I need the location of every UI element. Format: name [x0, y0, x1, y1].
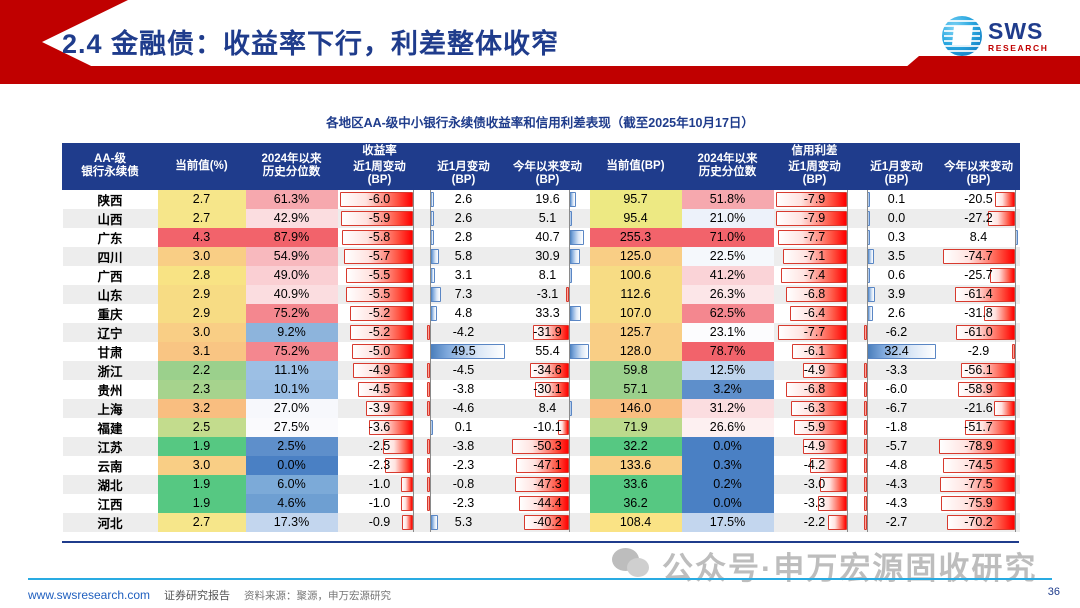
cell-value: 95.4 — [623, 211, 647, 225]
table-row[interactable]: 四川3.054.9%-5.75.830.9125.022.5%-7.13.5-7… — [63, 247, 1020, 266]
cell-value: -5.9 — [369, 211, 391, 225]
bar-axis — [413, 342, 414, 361]
bar-axis — [1015, 266, 1016, 285]
col-head-spread-ytd-l2: (BP) — [940, 174, 1017, 188]
cell-yield-current: 1.9 — [158, 437, 246, 456]
bar-axis — [867, 437, 868, 456]
bar-axis — [430, 190, 431, 209]
col-head-spread-w1-l2: (BP) — [776, 174, 853, 188]
cell-region: 甘肃 — [63, 342, 158, 361]
cell-spread-current: 36.2 — [590, 494, 682, 513]
cell-yield-current: 3.1 — [158, 342, 246, 361]
cell-yield-ytd-change: 8.4 — [506, 399, 590, 418]
cell-value: -27.2 — [964, 211, 993, 225]
bar-axis — [430, 437, 431, 456]
table-row[interactable]: 浙江2.211.1%-4.9-4.5-34.659.812.5%-4.9-3.3… — [63, 361, 1020, 380]
cell-value: 8.1 — [539, 268, 556, 282]
bar-axis — [430, 285, 431, 304]
cell-spread-ytd-change: -75.9 — [938, 494, 1020, 513]
slide-footer: www.swsresearch.com 证券研究报告 资料来源：聚源，申万宏源研… — [28, 583, 1052, 607]
table-row[interactable]: 湖北1.96.0%-1.0-0.8-47.333.60.2%-3.0-4.3-7… — [63, 475, 1020, 494]
cell-region: 山西 — [63, 209, 158, 228]
bar-axis — [413, 494, 414, 513]
table-row[interactable]: 山东2.940.9%-5.57.3-3.1112.626.3%-6.83.9-6… — [63, 285, 1020, 304]
data-bar — [867, 287, 875, 302]
col-head-yield-ytd: 今年以来变动 (BP) — [506, 160, 590, 190]
cell-value: -5.7 — [886, 439, 908, 453]
bar-axis — [847, 190, 848, 209]
cell-value: 61.3% — [274, 192, 309, 206]
cell-value: -5.0 — [369, 344, 391, 358]
bar-axis — [413, 266, 414, 285]
col-head-spread-current-label: 当前值(BP) — [592, 160, 679, 174]
table-row[interactable]: 山西2.742.9%-5.92.65.195.421.0%-7.90.0-27.… — [63, 209, 1020, 228]
bar-axis — [430, 494, 431, 513]
cell-value: 山西 — [97, 213, 122, 227]
cell-yield-week-change: -5.2 — [338, 304, 422, 323]
cell-yield-ytd-change: -10.1 — [506, 418, 590, 437]
cell-spread-current: 95.7 — [590, 189, 682, 209]
data-bar — [401, 477, 413, 492]
data-bar — [401, 496, 413, 511]
cell-yield-ytd-change: 19.6 — [506, 189, 590, 209]
cell-yield-ytd-change: -3.1 — [506, 285, 590, 304]
bar-axis — [1015, 456, 1016, 475]
sws-logo-main: SWS — [988, 20, 1049, 43]
cell-spread-ytd-change: -51.7 — [938, 418, 1020, 437]
cell-yield-ytd-change: 5.1 — [506, 209, 590, 228]
cell-value: 1.9 — [193, 496, 210, 510]
cell-value: 36.2 — [623, 496, 647, 510]
cell-value: -4.5 — [453, 363, 475, 377]
bar-axis — [430, 361, 431, 380]
wechat-watermark-text: 公众号·申万宏源固收研究 — [662, 543, 1037, 588]
cell-value: -40.2 — [533, 515, 562, 529]
cell-spread-ytd-change: -58.9 — [938, 380, 1020, 399]
data-bar — [569, 344, 589, 359]
cell-value: 255.3 — [620, 230, 651, 244]
cell-value: 40.7 — [535, 230, 559, 244]
bar-axis — [569, 399, 570, 418]
col-head-spread-ytd-l1: 今年以来变动 — [940, 161, 1017, 175]
cell-spread-ytd-change: -2.9 — [938, 342, 1020, 361]
data-bar — [569, 230, 584, 245]
bar-axis — [569, 304, 570, 323]
cell-yield-current: 2.3 — [158, 380, 246, 399]
bar-axis — [847, 209, 848, 228]
cell-value: 75.2% — [274, 306, 309, 320]
cell-yield-percentile: 27.5% — [246, 418, 338, 437]
cell-yield-week-change: -5.5 — [338, 266, 422, 285]
cell-yield-week-change: -4.5 — [338, 380, 422, 399]
cell-spread-percentile: 62.5% — [682, 304, 774, 323]
cell-spread-week-change: -6.4 — [774, 304, 856, 323]
cell-yield-week-change: -2.3 — [338, 456, 422, 475]
cell-yield-percentile: 2.5% — [246, 437, 338, 456]
cell-yield-percentile: 61.3% — [246, 189, 338, 209]
bar-axis — [867, 456, 868, 475]
cell-value: 上海 — [97, 403, 122, 417]
bar-axis — [847, 475, 848, 494]
cell-yield-ytd-change: 8.1 — [506, 266, 590, 285]
table-bottom-rule — [62, 541, 1019, 543]
cell-yield-week-change: -6.0 — [338, 189, 422, 209]
col-head-yield-current: 当前值(%) — [158, 144, 246, 190]
cell-yield-ytd-change: -44.4 — [506, 494, 590, 513]
bar-axis — [867, 494, 868, 513]
cell-value: -3.9 — [369, 401, 391, 415]
cell-value: 3.1 — [193, 344, 210, 358]
cell-value: -7.4 — [804, 268, 826, 282]
page-number: 36 — [1048, 586, 1060, 598]
cell-value: -61.0 — [964, 325, 993, 339]
cell-region: 上海 — [63, 399, 158, 418]
footer-url[interactable]: www.swsresearch.com — [28, 588, 150, 602]
cell-yield-current: 3.0 — [158, 247, 246, 266]
cell-spread-current: 95.4 — [590, 209, 682, 228]
cell-value: 福建 — [97, 422, 122, 436]
bar-axis — [1015, 361, 1016, 380]
cell-value: 30.9 — [535, 249, 559, 263]
cell-spread-month-change: -5.7 — [856, 437, 938, 456]
bar-axis — [1015, 342, 1016, 361]
cell-value: -56.1 — [964, 363, 993, 377]
cell-region: 江苏 — [63, 437, 158, 456]
cell-yield-month-change: -3.8 — [422, 437, 506, 456]
col-head-region-l1: AA-级 — [65, 153, 155, 167]
bar-axis — [569, 228, 570, 247]
cell-value: -21.6 — [964, 401, 993, 415]
col-head-yield-pct-l1: 2024年以来 — [248, 153, 335, 167]
bar-axis — [430, 266, 431, 285]
cell-yield-percentile: 11.1% — [246, 361, 338, 380]
col-head-spread-m1-l2: (BP) — [858, 174, 935, 188]
cell-value: 57.1 — [623, 382, 647, 396]
cell-value: -4.9 — [369, 363, 391, 377]
cell-spread-percentile: 0.0% — [682, 437, 774, 456]
col-head-yield-ytd-l1: 今年以来变动 — [508, 161, 587, 175]
cell-value: 32.2 — [623, 439, 647, 453]
cell-yield-week-change: -5.0 — [338, 342, 422, 361]
cell-value: 2.5% — [277, 439, 306, 453]
bar-axis — [847, 494, 848, 513]
bar-axis — [867, 513, 868, 532]
cell-value: -5.2 — [369, 325, 391, 339]
bar-axis — [867, 247, 868, 266]
cell-spread-week-change: -5.9 — [774, 418, 856, 437]
bar-axis — [1015, 399, 1016, 418]
cell-value: 2.9 — [193, 306, 210, 320]
cell-yield-week-change: -0.9 — [338, 513, 422, 532]
cell-value: -6.0 — [369, 192, 391, 206]
cell-value: 湖北 — [97, 479, 122, 493]
cell-value: 112.6 — [620, 287, 650, 301]
cell-value: -2.5 — [369, 439, 391, 453]
cell-yield-week-change: -2.5 — [338, 437, 422, 456]
footer-source: 资料来源：聚源，申万宏源研究 — [244, 588, 391, 603]
cell-yield-percentile: 42.9% — [246, 209, 338, 228]
cell-yield-percentile: 75.2% — [246, 342, 338, 361]
cell-value: 3.0 — [193, 325, 210, 339]
bar-axis — [1015, 323, 1016, 342]
cell-spread-ytd-change: -27.2 — [938, 209, 1020, 228]
cell-yield-week-change: -3.9 — [338, 399, 422, 418]
cell-yield-percentile: 40.9% — [246, 285, 338, 304]
cell-spread-current: 107.0 — [590, 304, 682, 323]
bar-axis — [569, 494, 570, 513]
table-group-header-row: AA-级 银行永续债 当前值(%) 2024年以来 历史分位数 收益率 当前值(… — [63, 144, 1020, 160]
cell-value: -0.9 — [369, 515, 391, 529]
group-head-yield-spacer-1 — [422, 144, 506, 160]
cell-value: 2.3 — [193, 382, 210, 396]
cell-spread-ytd-change: -20.5 — [938, 189, 1020, 209]
table-row[interactable]: 陕西2.761.3%-6.02.619.695.751.8%-7.90.1-20… — [63, 189, 1020, 209]
bar-axis — [1015, 285, 1016, 304]
cell-yield-percentile: 27.0% — [246, 399, 338, 418]
cell-region: 福建 — [63, 418, 158, 437]
cell-yield-percentile: 17.3% — [246, 513, 338, 532]
cell-value: -7.7 — [804, 230, 826, 244]
cell-value: 54.9% — [274, 249, 309, 263]
bar-axis — [413, 399, 414, 418]
cell-yield-ytd-change: 40.7 — [506, 228, 590, 247]
data-bar — [430, 287, 441, 302]
cell-value: 2.7 — [193, 192, 210, 206]
cell-spread-week-change: -4.9 — [774, 361, 856, 380]
cell-value: 78.7% — [710, 344, 745, 358]
table-row[interactable]: 江苏1.92.5%-2.5-3.8-50.332.20.0%-4.9-5.7-7… — [63, 437, 1020, 456]
bar-axis — [430, 304, 431, 323]
cell-spread-current: 146.0 — [590, 399, 682, 418]
bar-axis — [413, 304, 414, 323]
cell-spread-week-change: -7.1 — [774, 247, 856, 266]
cell-region: 广东 — [63, 228, 158, 247]
cell-value: 3.2% — [713, 382, 742, 396]
cell-spread-ytd-change: -61.4 — [938, 285, 1020, 304]
bar-axis — [569, 456, 570, 475]
cell-yield-current: 2.7 — [158, 513, 246, 532]
cell-spread-ytd-change: -56.1 — [938, 361, 1020, 380]
cell-value: 125.0 — [620, 249, 651, 263]
cell-region: 陕西 — [63, 189, 158, 209]
bar-axis — [413, 285, 414, 304]
cell-spread-current: 71.9 — [590, 418, 682, 437]
table-head: AA-级 银行永续债 当前值(%) 2024年以来 历史分位数 收益率 当前值(… — [63, 144, 1020, 190]
cell-yield-current: 3.0 — [158, 323, 246, 342]
cell-yield-month-change: -4.5 — [422, 361, 506, 380]
bar-axis — [847, 247, 848, 266]
cell-value: -2.9 — [968, 344, 990, 358]
cell-spread-percentile: 41.2% — [682, 266, 774, 285]
table-row[interactable]: 河北2.717.3%-0.95.3-40.2108.417.5%-2.2-2.7… — [63, 513, 1020, 532]
cell-spread-percentile: 51.8% — [682, 189, 774, 209]
bar-axis — [1015, 380, 1016, 399]
cell-spread-current: 59.8 — [590, 361, 682, 380]
col-head-spread-ytd: 今年以来变动 (BP) — [938, 160, 1020, 190]
cell-value: -5.5 — [369, 287, 391, 301]
cell-yield-ytd-change: 55.4 — [506, 342, 590, 361]
cell-value: 4.3 — [193, 230, 210, 244]
cell-yield-current: 4.3 — [158, 228, 246, 247]
cell-yield-current: 2.5 — [158, 418, 246, 437]
cell-spread-percentile: 0.3% — [682, 456, 774, 475]
cell-value: -4.5 — [369, 382, 391, 396]
cell-spread-month-change: 0.0 — [856, 209, 938, 228]
cell-yield-percentile: 87.9% — [246, 228, 338, 247]
cell-value: -0.8 — [453, 477, 475, 491]
table-row[interactable]: 广东4.387.9%-5.82.840.7255.371.0%-7.70.38.… — [63, 228, 1020, 247]
bar-axis — [847, 228, 848, 247]
cell-yield-ytd-change: 30.9 — [506, 247, 590, 266]
cell-value: -3.6 — [369, 420, 391, 434]
cell-value: 27.0% — [274, 401, 309, 415]
cell-value: 95.7 — [623, 192, 647, 206]
cell-region: 广西 — [63, 266, 158, 285]
col-head-yield-pct-l2: 历史分位数 — [248, 166, 335, 180]
cell-value: 26.6% — [710, 420, 745, 434]
data-bar — [867, 249, 874, 264]
cell-value: 2.6 — [455, 192, 472, 206]
cell-yield-current: 1.9 — [158, 475, 246, 494]
data-bar — [569, 249, 580, 264]
cell-spread-week-change: -7.7 — [774, 323, 856, 342]
cell-spread-month-change: 0.1 — [856, 189, 938, 209]
table-row[interactable]: 江西1.94.6%-1.0-2.3-44.436.20.0%-3.3-4.3-7… — [63, 494, 1020, 513]
table-row[interactable]: 重庆2.975.2%-5.24.833.3107.062.5%-6.42.6-3… — [63, 304, 1020, 323]
cell-spread-percentile: 71.0% — [682, 228, 774, 247]
bar-axis — [847, 285, 848, 304]
cell-spread-current: 125.0 — [590, 247, 682, 266]
cell-spread-month-change: -6.0 — [856, 380, 938, 399]
cell-value: -20.5 — [964, 192, 993, 206]
cell-spread-ytd-change: -31.8 — [938, 304, 1020, 323]
cell-spread-week-change: -4.2 — [774, 456, 856, 475]
cell-yield-current: 2.7 — [158, 209, 246, 228]
cell-value: 2.6 — [888, 306, 905, 320]
cell-region: 山东 — [63, 285, 158, 304]
cell-region: 辽宁 — [63, 323, 158, 342]
cell-value: -31.8 — [964, 306, 993, 320]
cell-spread-current: 125.7 — [590, 323, 682, 342]
bar-axis — [413, 247, 414, 266]
cell-spread-current: 112.6 — [590, 285, 682, 304]
cell-value: 甘肃 — [97, 346, 122, 360]
cell-region: 云南 — [63, 456, 158, 475]
cell-value: -2.7 — [886, 515, 908, 529]
cell-value: 107.0 — [620, 306, 651, 320]
cell-value: 21.0% — [710, 211, 745, 225]
cell-yield-percentile: 75.2% — [246, 304, 338, 323]
cell-value: -4.9 — [804, 439, 826, 453]
cell-yield-current: 3.2 — [158, 399, 246, 418]
bar-axis — [569, 475, 570, 494]
cell-value: 3.2 — [193, 401, 210, 415]
cell-value: 2.6 — [455, 211, 472, 225]
group-head-yield: 收益率 — [338, 144, 422, 160]
bar-axis — [1015, 304, 1016, 323]
bar-axis — [430, 399, 431, 418]
bar-axis — [847, 437, 848, 456]
cell-value: 2.8 — [193, 268, 210, 282]
header-red-bar — [28, 66, 1080, 84]
cell-spread-week-change: -7.7 — [774, 228, 856, 247]
cell-region: 重庆 — [63, 304, 158, 323]
cell-spread-week-change: -4.9 — [774, 437, 856, 456]
table-body: 陕西2.761.3%-6.02.619.695.751.8%-7.90.1-20… — [63, 189, 1020, 532]
cell-yield-week-change: -4.9 — [338, 361, 422, 380]
cell-spread-month-change: 0.3 — [856, 228, 938, 247]
cell-value: 重庆 — [97, 308, 122, 322]
bar-axis — [413, 323, 414, 342]
table-row[interactable]: 福建2.527.5%-3.60.1-10.171.926.6%-5.9-1.8-… — [63, 418, 1020, 437]
cell-value: 10.1% — [274, 382, 309, 396]
col-head-yield-m1: 近1月变动 (BP) — [422, 160, 506, 190]
cell-spread-percentile: 26.6% — [682, 418, 774, 437]
table-row[interactable]: 上海3.227.0%-3.9-4.68.4146.031.2%-6.3-6.7-… — [63, 399, 1020, 418]
table-row[interactable]: 贵州2.310.1%-4.5-3.8-30.157.13.2%-6.8-6.0-… — [63, 380, 1020, 399]
data-bar — [569, 306, 581, 321]
cell-value: -1.0 — [369, 477, 391, 491]
col-head-spread-m1-l1: 近1月变动 — [858, 161, 935, 175]
table-row[interactable]: 甘肃3.175.2%-5.049.555.4128.078.7%-6.132.4… — [63, 342, 1020, 361]
cell-value: -6.3 — [804, 401, 826, 415]
cell-value: 0.1 — [455, 420, 472, 434]
cell-yield-month-change: -2.3 — [422, 456, 506, 475]
cell-spread-percentile: 3.2% — [682, 380, 774, 399]
cell-value: -25.7 — [964, 268, 993, 282]
cell-spread-percentile: 21.0% — [682, 209, 774, 228]
cell-value: 33.6 — [623, 477, 647, 491]
cell-value: -6.0 — [886, 382, 908, 396]
cell-spread-percentile: 22.5% — [682, 247, 774, 266]
bar-axis — [569, 247, 570, 266]
bar-axis — [1015, 228, 1016, 247]
cell-value: 55.4 — [535, 344, 559, 358]
bar-axis — [1015, 513, 1016, 532]
cell-value: -70.2 — [964, 515, 993, 529]
cell-value: -44.4 — [533, 496, 562, 510]
cell-value: 100.6 — [620, 268, 651, 282]
cell-yield-week-change: -5.8 — [338, 228, 422, 247]
data-table: AA-级 银行永续债 当前值(%) 2024年以来 历史分位数 收益率 当前值(… — [62, 143, 1020, 532]
cell-value: 40.9% — [274, 287, 309, 301]
bar-axis — [413, 190, 414, 209]
cell-value: -5.2 — [369, 306, 391, 320]
table-row[interactable]: 辽宁3.09.2%-5.2-4.2-31.9125.723.1%-7.7-6.2… — [63, 323, 1020, 342]
table-row[interactable]: 广西2.849.0%-5.53.18.1100.641.2%-7.40.6-25… — [63, 266, 1020, 285]
cell-yield-week-change: -5.5 — [338, 285, 422, 304]
cell-value: 33.3 — [535, 306, 559, 320]
cell-value: 陕西 — [97, 194, 122, 208]
bar-axis — [569, 190, 570, 209]
cell-value: -30.1 — [533, 382, 562, 396]
cell-value: 四川 — [97, 251, 122, 265]
cell-spread-week-change: -2.2 — [774, 513, 856, 532]
cell-value: 7.3 — [455, 287, 472, 301]
cell-value: -47.3 — [533, 477, 562, 491]
col-head-spread-pct: 2024年以来 历史分位数 — [682, 144, 774, 190]
table-row[interactable]: 云南3.00.0%-2.3-2.3-47.1133.60.3%-4.2-4.8-… — [63, 456, 1020, 475]
cell-value: 5.8 — [455, 249, 472, 263]
slide-header: 2.4 金融债：收益率下行，利差整体收窄 SWS RESEARCH — [0, 0, 1080, 84]
cell-spread-month-change: 32.4 — [856, 342, 938, 361]
data-bar — [402, 515, 413, 530]
cell-yield-percentile: 0.0% — [246, 456, 338, 475]
cell-region: 四川 — [63, 247, 158, 266]
cell-value: 71.9 — [623, 420, 647, 434]
bar-axis — [867, 304, 868, 323]
cell-value: 49.0% — [274, 268, 309, 282]
